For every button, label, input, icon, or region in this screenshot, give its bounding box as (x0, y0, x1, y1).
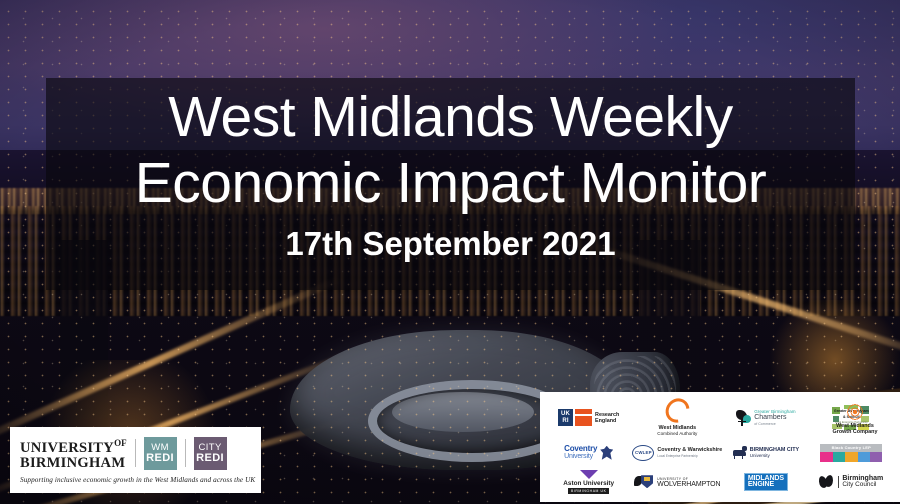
bclep-label: Black Country LEP (832, 445, 871, 450)
uob-logo-row: UNIVERSITYOF BIRMINGHAM WM REDI CITY RED… (20, 436, 251, 471)
city-redi-bottom: REDI (196, 453, 224, 464)
ukri-icon: UKRI (558, 409, 592, 426)
partner-logo-university-of-wolverhampton: UNIVERSITY OF WOLVERHAMPTON (631, 468, 723, 498)
uob-word-birmingham: BIRMINGHAM (20, 456, 127, 471)
bcu-bull-icon (733, 446, 747, 459)
wolverhampton-label-2: WOLVERHAMPTON (657, 482, 720, 488)
title-line-1: West Midlands Weekly (168, 84, 732, 150)
partner-logo-cwlep: CWLEP Coventry & Warwickshire Local Ente… (631, 438, 723, 468)
wolverhampton-shield-icon (634, 475, 654, 489)
uob-tagline: Supporting inclusive economic growth in … (20, 476, 251, 484)
midlands-engine-label-2: ENGINE (748, 482, 774, 489)
title-block: West Midlands Weekly Economic Impact Mon… (46, 78, 855, 290)
partner-logo-birmingham-city-university: BIRMINGHAM CITY University (723, 438, 808, 468)
wmgc-label-2: Growth Company (833, 429, 878, 435)
partner-logo-west-midlands-combined-authority: West Midlands Combined Authority (631, 397, 723, 438)
partner-logo-birmingham-city-council: Birmingham City Council (809, 468, 894, 498)
wmca-ring-icon (661, 394, 695, 428)
partner-logo-west-midlands-growth-company: West Midlands Growth Company (814, 401, 896, 435)
partner-logo-aston-university: Aston University BIRMINGHAM UK (546, 468, 631, 498)
bcu-label-2: University (750, 453, 770, 459)
cwlep-label-2: Local Enterprise Partnership (657, 453, 697, 459)
partner-logo-coventry-university: Coventry University (546, 438, 631, 468)
bcc-heart-icon (819, 475, 835, 489)
partner-logo-black-country-lep: Black Country LEP (809, 438, 894, 468)
city-redi-logo: CITY REDI (194, 437, 227, 470)
partner-logo-greater-birmingham-chambers: Greater Birmingham Chambers of Commerce (723, 397, 808, 438)
title-date: 17th September 2021 (285, 222, 615, 266)
presentation-slide: West Midlands Weekly Economic Impact Mon… (0, 0, 900, 504)
chambers-icon (736, 410, 751, 426)
coventry-label-2: University (564, 453, 593, 461)
aston-label-2: BIRMINGHAM UK (568, 488, 610, 494)
ukri-label-2: England (595, 418, 616, 424)
bcc-label-2: City Council (842, 482, 876, 488)
divider-2 (185, 439, 186, 467)
wm-redi-bottom: REDI (146, 453, 174, 464)
chambers-label-3: of Commerce (754, 421, 776, 427)
black-country-lep-icon: Black Country LEP (820, 444, 882, 462)
partner-logo-midlands-engine: MIDLANDS ENGINE (723, 468, 808, 498)
university-of-birmingham-logo-panel: UNIVERSITYOF BIRMINGHAM WM REDI CITY RED… (10, 427, 261, 493)
uob-word-university: UNIVERSITYOF (20, 436, 127, 456)
title-line-2: Economic Impact Monitor (135, 150, 767, 216)
wm-redi-logo: WM REDI (144, 437, 177, 470)
wmgc-icon (845, 402, 865, 422)
coventry-crest-icon (600, 446, 613, 460)
aston-label-1: Aston University (563, 480, 614, 487)
aston-icon: Aston University BIRMINGHAM UK (563, 470, 614, 494)
partner-logo-ukri-research-england: UKRI Research England (546, 397, 631, 438)
uob-wordmark: UNIVERSITYOF BIRMINGHAM (20, 436, 127, 471)
divider-1 (135, 439, 136, 467)
coventry-label-1: Coventry (564, 445, 597, 453)
wmca-label-2: Combined Authority (657, 431, 697, 437)
partner-logos-panel: UKRI Research England West Midlands Comb… (540, 392, 900, 502)
cwlep-icon: CWLEP (632, 445, 654, 461)
midlands-engine-icon: MIDLANDS ENGINE (744, 473, 788, 491)
